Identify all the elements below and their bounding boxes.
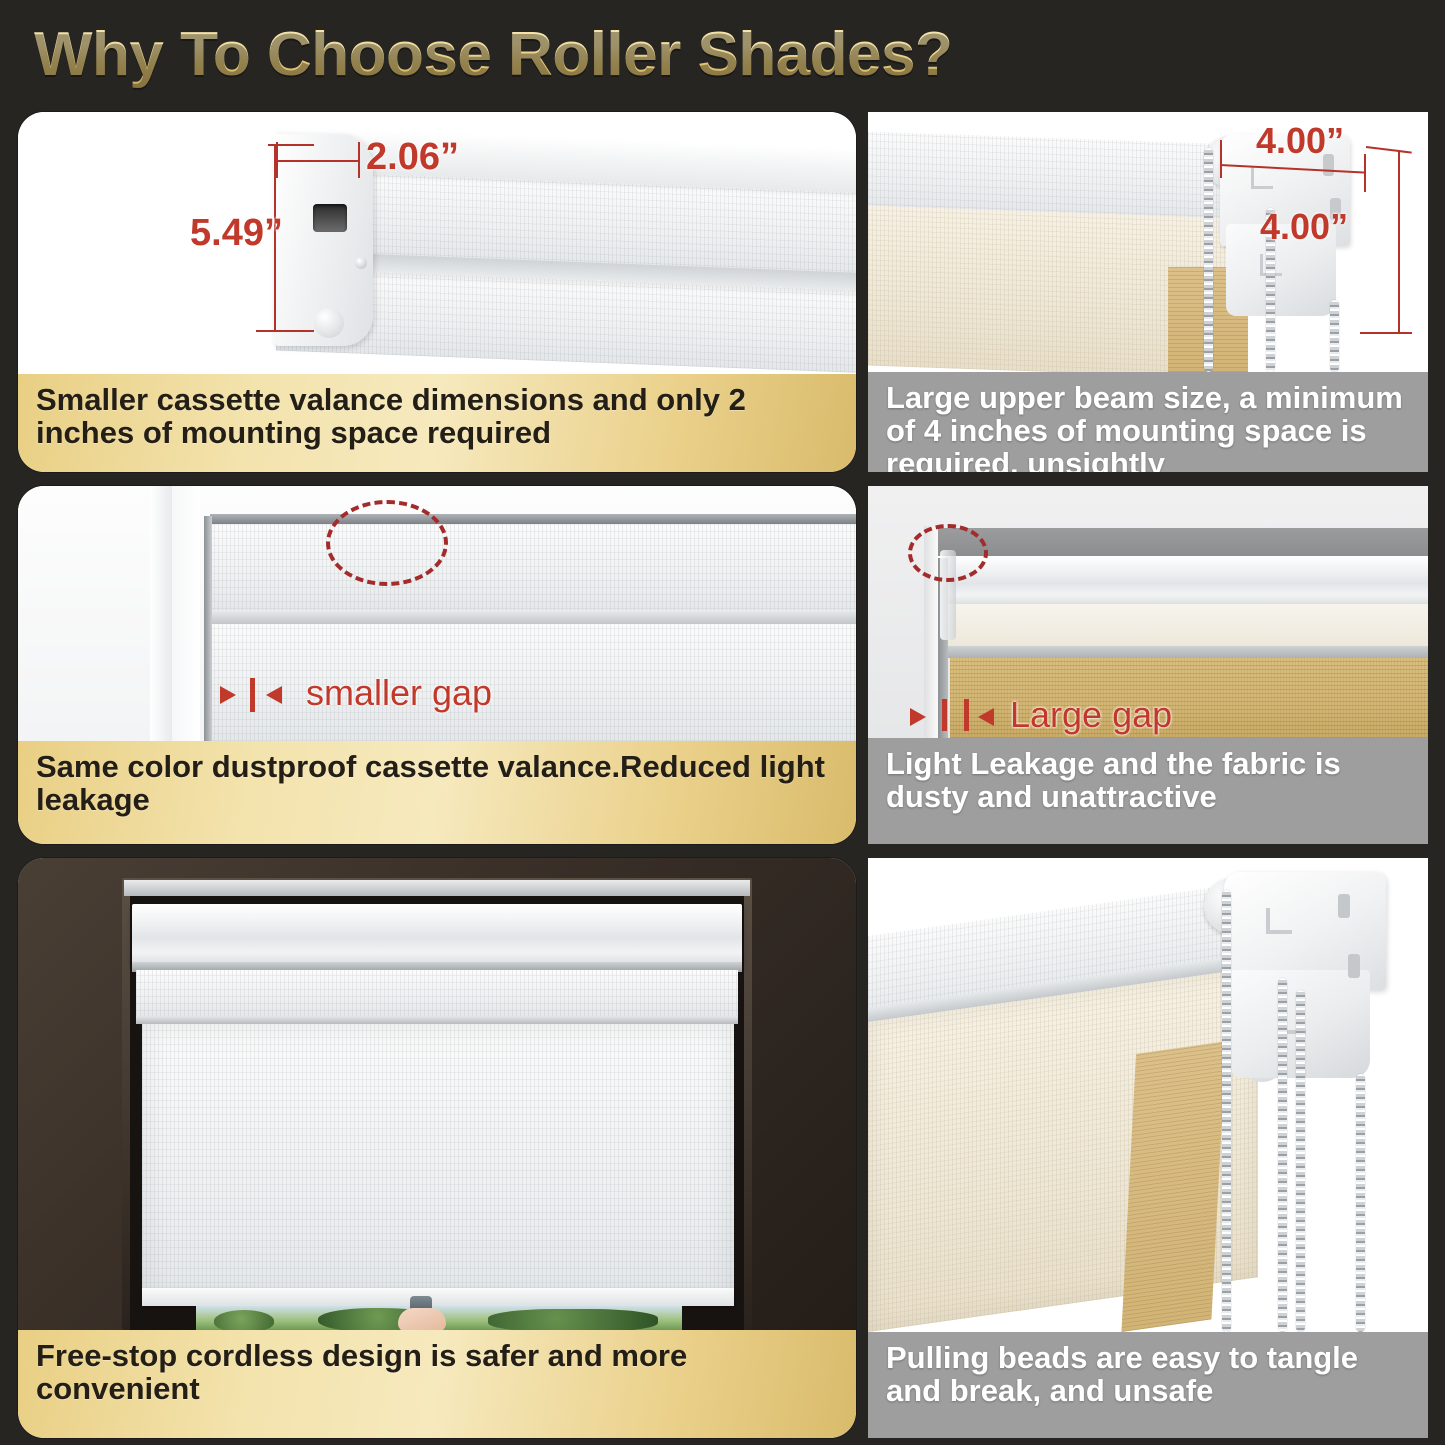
shade-fabric	[142, 1024, 734, 1304]
panel-4-caption-text: Light Leakage and the fabric is dusty an…	[868, 738, 1428, 822]
panel-6-image	[868, 858, 1428, 1332]
bead-chain	[1330, 300, 1339, 372]
bead-chain[interactable]	[1356, 1074, 1365, 1332]
gap-arrow-left	[978, 708, 994, 726]
panel-5-image	[18, 858, 856, 1330]
dimension-label-height: 4.00”	[1260, 206, 1348, 248]
panel-2-bad[interactable]: 4.00” 4.00” Large upper beam size, a min…	[868, 112, 1428, 472]
comparison-grid: 2.06” 5.49” Smaller cassette valance dim…	[0, 108, 1445, 1445]
panel-2-caption-text: Large upper beam size, a minimum of 4 in…	[868, 372, 1428, 472]
header-bar: Why To Choose Roller Shades?	[0, 0, 1445, 108]
highlight-ellipse	[908, 524, 988, 582]
dimension-label-height: 5.49”	[190, 212, 283, 255]
gap-callout-label: Large gap	[1010, 694, 1172, 736]
bottom-rail	[142, 1288, 734, 1306]
panel-4-bad[interactable]: Large gap Light Leakage and the fabric i…	[868, 486, 1428, 844]
bead-chain[interactable]	[1296, 990, 1305, 1332]
panel-3-caption: Same color dustproof cassette valance.Re…	[18, 741, 856, 844]
panel-5-caption-text: Free-stop cordless design is safer and m…	[18, 1330, 856, 1414]
fabric-backing	[1121, 1041, 1226, 1332]
bead-chain[interactable]	[1222, 890, 1231, 1332]
hand	[398, 1308, 446, 1330]
dimension-label-width: 2.06”	[366, 136, 459, 179]
panel-6-caption: Pulling beads are easy to tangle and bre…	[868, 1332, 1428, 1438]
panel-3-caption-text: Same color dustproof cassette valance.Re…	[18, 741, 856, 825]
panel-3-good[interactable]: smaller gap Same color dustproof cassett…	[18, 486, 856, 844]
panel-1-caption: Smaller cassette valance dimensions and …	[18, 374, 856, 472]
panel-1-caption-text: Smaller cassette valance dimensions and …	[18, 374, 856, 458]
panel-2-image: 4.00” 4.00”	[868, 112, 1428, 372]
gap-callout-label: smaller gap	[306, 672, 492, 714]
cassette-valance	[132, 904, 742, 966]
gap-arrow-right	[220, 686, 236, 704]
bead-chain[interactable]	[1278, 978, 1287, 1332]
panel-2-caption: Large upper beam size, a minimum of 4 in…	[868, 372, 1428, 472]
panel-4-caption: Light Leakage and the fabric is dusty an…	[868, 738, 1428, 844]
gap-arrow-left	[266, 686, 282, 704]
dimension-label-width: 4.00”	[1256, 120, 1344, 162]
bead-chain	[1204, 148, 1213, 372]
panel-3-image: smaller gap	[18, 486, 856, 741]
panel-5-good[interactable]: Free-stop cordless design is safer and m…	[18, 858, 856, 1438]
panel-6-bad[interactable]: Pulling beads are easy to tangle and bre…	[868, 858, 1428, 1438]
gap-arrow-right	[910, 708, 926, 726]
panel-4-image: Large gap	[868, 486, 1428, 738]
page-title: Why To Choose Roller Shades?	[34, 19, 952, 90]
panel-1-good[interactable]: 2.06” 5.49” Smaller cassette valance dim…	[18, 112, 856, 472]
panel-6-caption-text: Pulling beads are easy to tangle and bre…	[868, 1332, 1428, 1416]
panel-5-caption: Free-stop cordless design is safer and m…	[18, 1330, 856, 1438]
panel-1-image: 2.06” 5.49”	[18, 112, 856, 374]
highlight-ellipse	[326, 500, 448, 586]
